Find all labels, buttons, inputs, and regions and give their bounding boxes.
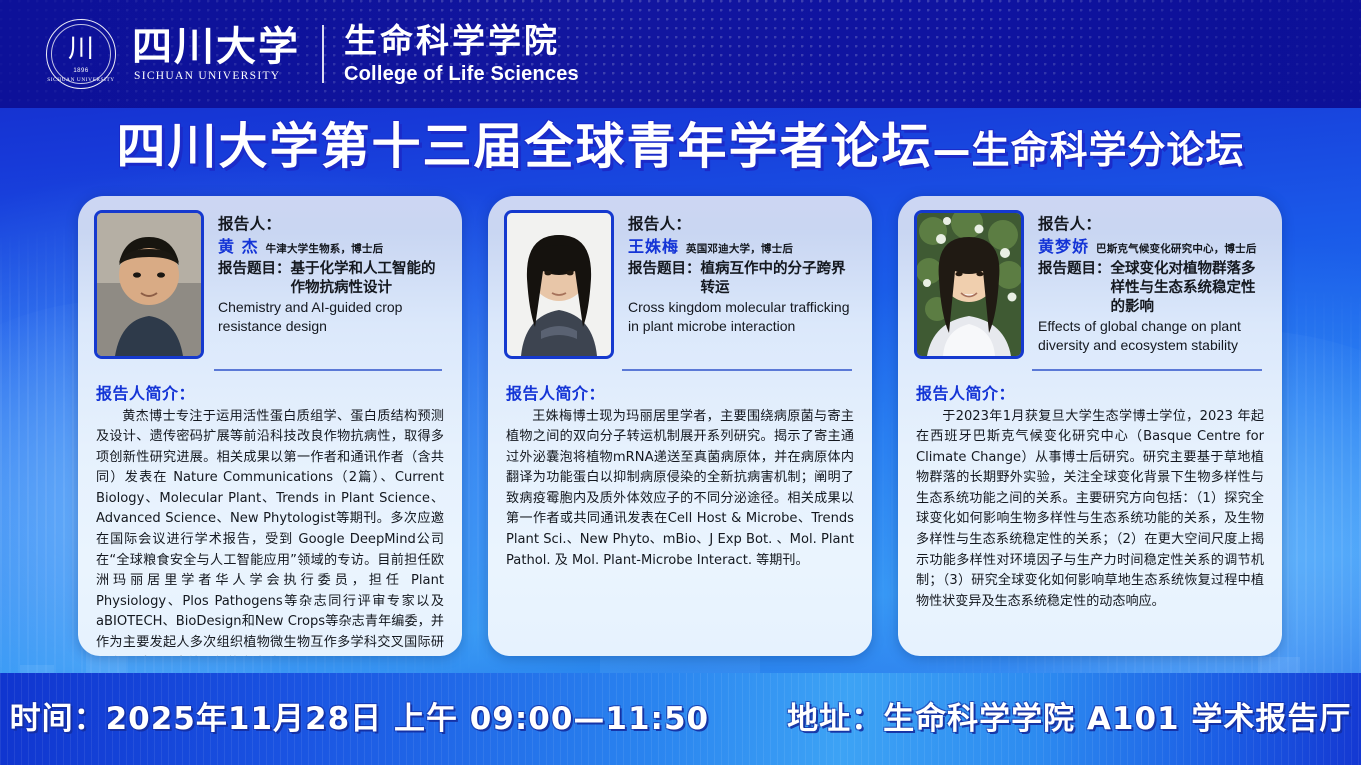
topic-title-cn: 全球变化对植物群落多样性与生态系统稳定性的影响	[1111, 260, 1267, 317]
college-name-block: 生命科学学院 College of Life Sciences	[344, 23, 579, 86]
speaker-name: 王姝梅	[628, 236, 679, 257]
speaker-name: 黄 杰	[218, 236, 259, 257]
speaker-card: 报告人： 黄梦娇 巴斯克气候变化研究中心，博士后 报告题目： 全球变化对植物群落…	[898, 196, 1282, 656]
page-title-sub: —生命科学分论坛	[933, 128, 1245, 172]
poster-root: 川 1896 SICHUAN UNIVERSITY 四川大学 SICHUAN U…	[0, 0, 1361, 765]
card-divider	[1032, 369, 1262, 371]
brand-lockup: 川 1896 SICHUAN UNIVERSITY 四川大学 SICHUAN U…	[46, 16, 579, 92]
bio-label: 报告人简介：	[916, 383, 1266, 405]
page-header: 川 1896 SICHUAN UNIVERSITY 四川大学 SICHUAN U…	[0, 0, 1361, 108]
seal-glyph: 川	[47, 36, 115, 62]
brand-divider	[322, 25, 324, 83]
speaker-card: 报告人： 王姝梅 英国邓迪大学，博士后 报告题目： 植病互作中的分子跨界转运 C…	[488, 196, 872, 656]
page-footer: 时间：2025年11月28日 上午 09:00—11:50 地址：生命科学学院 …	[0, 673, 1361, 765]
speaker-label: 报告人：	[628, 214, 856, 235]
college-name-en: College of Life Sciences	[344, 62, 579, 86]
speaker-bio: 于2023年1月获复旦大学生态学博士学位，2023 年起在西班牙巴斯克气候变化研…	[916, 407, 1264, 613]
topic-label: 报告题目：	[628, 260, 701, 298]
speaker-bio: 黄杰博士专注于运用活性蛋白质组学、蛋白质结构预测及设计、遗传密码扩展等前沿科技改…	[96, 407, 444, 657]
speaker-label: 报告人：	[1038, 214, 1266, 235]
topic-title-en: Chemistry and AI-guided crop resistance …	[218, 298, 446, 336]
seal-year: 1896	[47, 68, 115, 74]
topic-title-cn: 基于化学和人工智能的作物抗病性设计	[291, 260, 447, 298]
speaker-photo	[914, 210, 1024, 359]
topic-label: 报告题目：	[218, 260, 291, 298]
event-address: 地址：生命科学学院 A101 学术报告厅	[787, 699, 1351, 739]
topic-title-cn: 植病互作中的分子跨界转运	[701, 260, 857, 298]
topic-title-en: Cross kingdom molecular trafficking in p…	[628, 298, 856, 336]
topic-title-en: Effects of global change on plant divers…	[1038, 317, 1266, 355]
speaker-affiliation: 巴斯克气候变化研究中心，博士后	[1096, 242, 1257, 257]
speaker-card-list: 报告人： 黄 杰 牛津大学生物系，博士后 报告题目： 基于化学和人工智能的作物抗…	[0, 196, 1361, 656]
bio-label: 报告人简介：	[96, 383, 446, 405]
page-title: 四川大学第十三届全球青年学者论坛—生命科学分论坛	[0, 117, 1361, 180]
speaker-bio: 王姝梅博士现为玛丽居里学者，主要围绕病原菌与寄主植物之间的双向分子转运机制展开系…	[506, 407, 854, 572]
speaker-affiliation: 牛津大学生物系，博士后	[266, 242, 384, 257]
page-title-main: 四川大学第十三届全球青年学者论坛	[116, 118, 932, 175]
speaker-affiliation: 英国邓迪大学，博士后	[686, 242, 793, 257]
speaker-card: 报告人： 黄 杰 牛津大学生物系，博士后 报告题目： 基于化学和人工智能的作物抗…	[78, 196, 462, 656]
speaker-photo	[504, 210, 614, 359]
university-name-cn: 四川大学	[132, 26, 300, 68]
card-divider	[622, 369, 852, 371]
university-name-en: SICHUAN UNIVERSITY	[134, 70, 300, 82]
speaker-photo	[94, 210, 204, 359]
college-name-cn: 生命科学学院	[344, 23, 579, 59]
topic-label: 报告题目：	[1038, 260, 1111, 317]
event-time: 时间：2025年11月28日 上午 09:00—11:50	[10, 699, 710, 739]
speaker-name: 黄梦娇	[1038, 236, 1089, 257]
university-seal-icon: 川 1896 SICHUAN UNIVERSITY	[46, 19, 116, 89]
seal-arc-text: SICHUAN UNIVERSITY	[47, 77, 115, 83]
card-divider	[214, 369, 442, 371]
bio-label: 报告人简介：	[506, 383, 856, 405]
speaker-label: 报告人：	[218, 214, 446, 235]
university-name-block: 四川大学 SICHUAN UNIVERSITY	[116, 26, 300, 82]
